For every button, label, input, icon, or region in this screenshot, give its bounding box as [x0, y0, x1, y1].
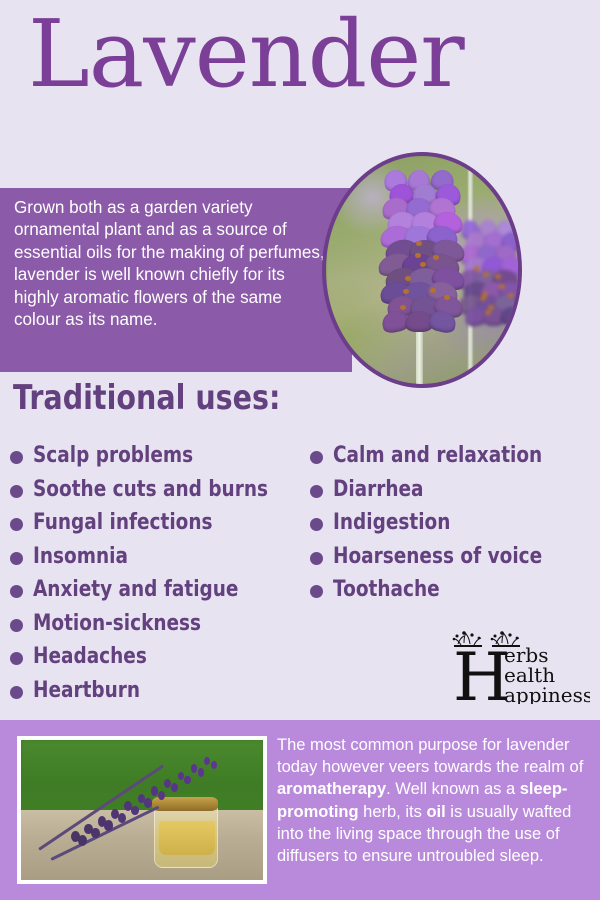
flower-stamen: [488, 305, 494, 310]
page-title: Lavender: [28, 8, 464, 101]
sprig-bud: [171, 783, 178, 792]
infographic-page: Lavender Grown both as a garden variety …: [0, 0, 600, 900]
sprig-bud: [78, 835, 87, 846]
sprig-bud: [144, 798, 151, 807]
list-item-label: Toothache: [333, 577, 440, 603]
list-item-label: Soothe cuts and burns: [33, 477, 268, 503]
list-item: Anxiety and fatigue: [10, 577, 310, 611]
traditional-uses-heading: Traditional uses:: [13, 381, 280, 415]
list-item-label: Calm and relaxation: [333, 443, 542, 469]
list-item-label: Heartburn: [33, 678, 140, 704]
lavender-flower-photo: [322, 152, 522, 388]
brand-logo[interactable]: H erbs ealth appiness: [452, 630, 590, 704]
flower-stamen: [444, 295, 450, 300]
flower-stamen: [420, 262, 426, 267]
list-item-label: Motion-sickness: [33, 611, 201, 637]
logo-monogram-h: H: [453, 639, 511, 704]
list-item: Soothe cuts and burns: [10, 477, 310, 511]
footer-text-emphasis: aromatherapy: [277, 780, 386, 798]
flower-stamen: [508, 293, 514, 298]
bullet-dot-icon: [10, 585, 23, 598]
list-item: Hoarseness of voice: [310, 544, 600, 578]
bullet-dot-icon: [310, 585, 323, 598]
bullet-dot-icon: [310, 518, 323, 531]
sprig-bud: [191, 764, 197, 772]
bullet-dot-icon: [10, 686, 23, 699]
list-item: Diarrhea: [310, 477, 600, 511]
uses-list-left: Scalp problemsSoothe cuts and burnsFunga…: [10, 443, 310, 711]
list-item: Toothache: [310, 577, 600, 611]
logo-graphic: H erbs ealth appiness: [452, 630, 590, 704]
sprig-bud: [198, 768, 204, 776]
sprig-bud: [131, 806, 139, 816]
list-item-label: Indigestion: [333, 510, 450, 536]
list-item-label: Hoarseness of voice: [333, 544, 542, 570]
photo-stone-surface: [21, 810, 263, 880]
list-item: Heartburn: [10, 678, 310, 712]
photo-background-flower: [464, 220, 518, 316]
uses-list-right: Calm and relaxationDiarrheaIndigestionHo…: [310, 443, 600, 611]
list-item: Motion-sickness: [10, 611, 310, 645]
list-item: Indigestion: [310, 510, 600, 544]
flower-stamen: [495, 274, 501, 279]
list-item: Insomnia: [10, 544, 310, 578]
sprig-bud: [104, 820, 112, 830]
list-item-label: Diarrhea: [333, 477, 424, 503]
list-item: Fungal infections: [10, 510, 310, 544]
footer-text-run: . Well known as a: [386, 780, 520, 798]
footer-text-run: herb, its: [359, 803, 427, 821]
sprig-bud: [211, 761, 217, 769]
list-item-label: Headaches: [33, 644, 147, 670]
sprig-bud: [158, 791, 165, 800]
flower-stamen: [482, 292, 488, 297]
logo-line-happiness: appiness: [504, 683, 590, 704]
list-item-label: Scalp problems: [33, 443, 193, 469]
bullet-dot-icon: [10, 619, 23, 632]
flower-stamen: [480, 296, 486, 301]
bullet-dot-icon: [310, 451, 323, 464]
list-item: Scalp problems: [10, 443, 310, 477]
list-item: Calm and relaxation: [310, 443, 600, 477]
bullet-dot-icon: [10, 485, 23, 498]
description-text: Grown both as a garden variety ornamenta…: [14, 197, 332, 331]
bullet-dot-icon: [10, 451, 23, 464]
list-item: Headaches: [10, 644, 310, 678]
flower-stamen: [499, 284, 505, 289]
bullet-dot-icon: [310, 485, 323, 498]
list-item-label: Fungal infections: [33, 510, 213, 536]
bullet-dot-icon: [10, 518, 23, 531]
bullet-dot-icon: [310, 552, 323, 565]
bullet-dot-icon: [10, 652, 23, 665]
sprig-bud: [91, 828, 100, 839]
list-item-label: Anxiety and fatigue: [33, 577, 238, 603]
sprig-bud: [118, 813, 126, 823]
footer-text-run: The most common purpose for lavender tod…: [277, 736, 583, 776]
footer-text: The most common purpose for lavender tod…: [277, 734, 592, 867]
footer-text-emphasis: oil: [426, 803, 445, 821]
bullet-dot-icon: [10, 552, 23, 565]
photo-oil: [159, 821, 215, 855]
list-item-label: Insomnia: [33, 544, 128, 570]
photo-flower-spike: [387, 170, 457, 320]
lavender-oil-jar-photo: [17, 736, 267, 884]
flower-stamen: [400, 305, 406, 310]
